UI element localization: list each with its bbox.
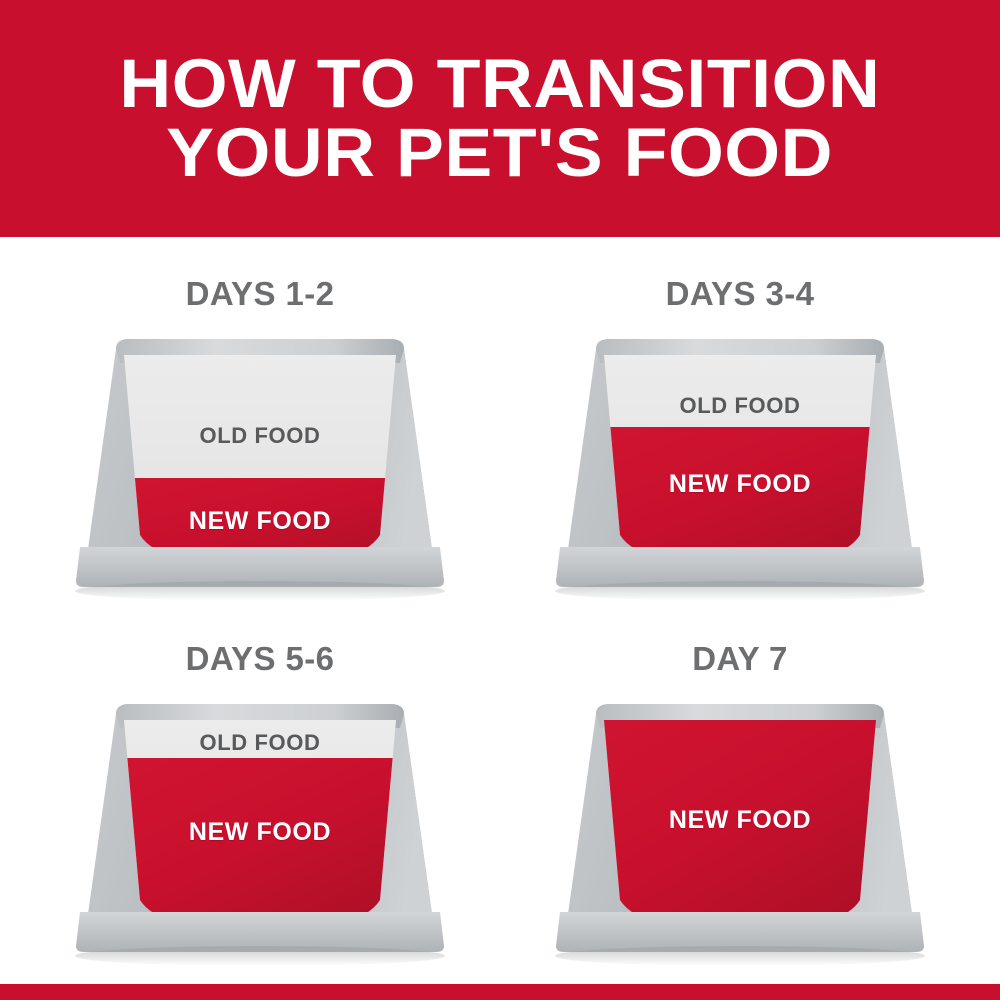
bowl-graphic-0: [60, 335, 460, 603]
bowl-graphic-1: [540, 335, 940, 603]
bowl-illustration-0: OLD FOOD NEW FOOD: [60, 335, 460, 603]
bowl-illustration-1: OLD FOOD NEW FOOD: [540, 335, 940, 603]
bowl-shadow-3: [555, 946, 925, 966]
bowl-illustration-2: OLD FOOD NEW FOOD: [60, 700, 460, 968]
panel-heading-0: DAYS 1-2: [20, 275, 500, 313]
panel-days-5-6: DAYS 5-6: [20, 622, 500, 992]
title-line-1: HOW TO TRANSITION: [120, 51, 881, 118]
bowl-graphic-3: [540, 700, 940, 968]
page-title: HOW TO TRANSITION YOUR PET'S FOOD: [0, 0, 1000, 237]
panel-heading-2: DAYS 5-6: [20, 640, 500, 678]
panel-heading-3: DAY 7: [500, 640, 980, 678]
title-line-2: YOUR PET'S FOOD: [167, 120, 834, 187]
bowl-illustration-3: NEW FOOD: [540, 700, 940, 968]
panel-heading-1: DAYS 3-4: [500, 275, 980, 313]
bowl-shadow-1: [555, 581, 925, 601]
bowl-shadow-2: [75, 946, 445, 966]
panel-day-7: DAY 7: [500, 622, 980, 992]
header-banner: HOW TO TRANSITION YOUR PET'S FOOD: [0, 0, 1000, 237]
footer-bar: [0, 984, 1000, 1000]
infographic-page: HOW TO TRANSITION YOUR PET'S FOOD DAYS 1…: [0, 0, 1000, 1000]
bowl-graphic-2: [60, 700, 460, 968]
panel-days-3-4: DAYS 3-4: [500, 257, 980, 627]
bowls-grid: DAYS 1-2: [0, 237, 1000, 984]
panel-days-1-2: DAYS 1-2: [20, 257, 500, 627]
bowl-shadow-0: [75, 581, 445, 601]
